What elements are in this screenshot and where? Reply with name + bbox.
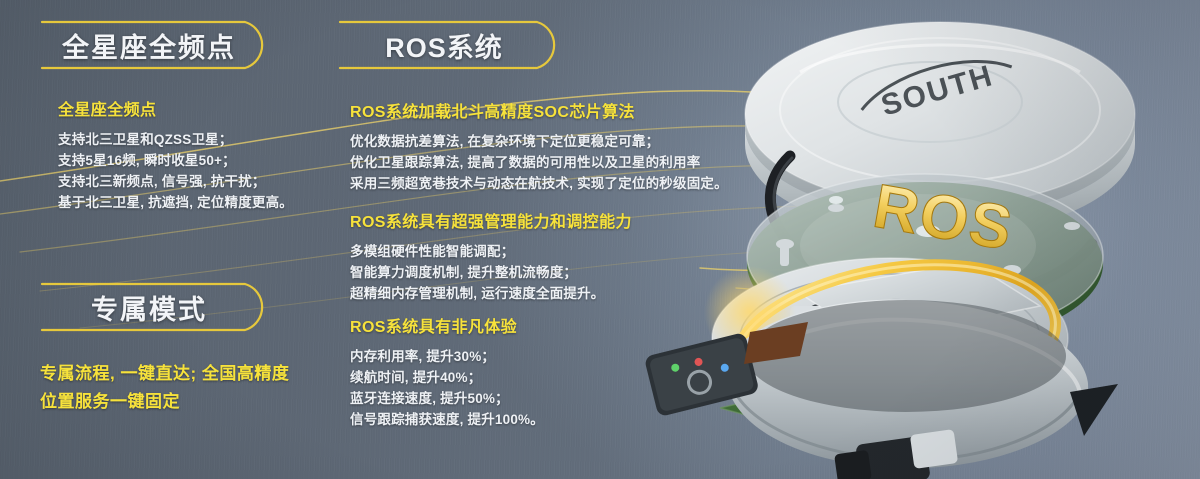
promo-banner: SOUTH bbox=[0, 0, 1200, 479]
feature-block-exclusive: 专属流程, 一键直达; 全国高精度 位置服务一键固定 bbox=[40, 360, 289, 416]
heading-exclusive-label: 专属模式 bbox=[42, 282, 270, 332]
ros-section-line: 内存利用率, 提升30%； bbox=[350, 346, 544, 367]
ros-section-line: 蓝牙连接速度, 提升50%； bbox=[350, 388, 544, 409]
feature-line: 支持5星16频, 瞬时收星50+； bbox=[58, 150, 293, 171]
feature-block-constellation: 全星座全频点 支持北三卫星和QZSS卫星； 支持5星16频, 瞬时收星50+； … bbox=[58, 96, 293, 213]
ros-section-line: 优化卫星跟踪算法, 提高了数据的可用性以及卫星的利用率 bbox=[350, 152, 728, 173]
ros-section-line: 超精细内存管理机制, 运行速度全面提升。 bbox=[350, 283, 632, 304]
ros-section-title: ROS系统具有非凡体验 bbox=[350, 313, 544, 337]
ros-section-line: 信号跟踪捕获速度, 提升100%。 bbox=[350, 409, 544, 430]
heading-ros-label: ROS系统 bbox=[340, 20, 562, 70]
feature-line: 基于北三卫星, 抗遮挡, 定位精度更高。 bbox=[58, 192, 293, 213]
ros-section-title: ROS系统加载北斗高精度SOC芯片算法 bbox=[350, 98, 728, 122]
ros-block-management: ROS系统具有超强管理能力和调控能力 多模组硬件性能智能调配； 智能算力调度机制… bbox=[350, 208, 632, 304]
ros-block-soc: ROS系统加载北斗高精度SOC芯片算法 优化数据抗差算法, 在复杂环境下定位更稳… bbox=[350, 98, 728, 194]
ros-block-experience: ROS系统具有非凡体验 内存利用率, 提升30%； 续航时间, 提升40%； 蓝… bbox=[350, 313, 544, 430]
ros-section-line: 多模组硬件性能智能调配； bbox=[350, 241, 632, 262]
ros-section-line: 优化数据抗差算法, 在复杂环境下定位更稳定可靠； bbox=[350, 131, 728, 152]
feature-title: 全星座全频点 bbox=[58, 96, 293, 120]
feature-line: 支持北三卫星和QZSS卫星； bbox=[58, 129, 293, 150]
ros-section-line: 续航时间, 提升40%； bbox=[350, 367, 544, 388]
ros-section-line: 采用三频超宽巷技术与动态在航技术, 实现了定位的秒级固定。 bbox=[350, 173, 728, 194]
ros-section-line: 智能算力调度机制, 提升整机流畅度； bbox=[350, 262, 632, 283]
ros-section-title: ROS系统具有超强管理能力和调控能力 bbox=[350, 208, 632, 232]
heading-bracket-ros: ROS系统 bbox=[340, 20, 562, 70]
heading-constellation-label: 全星座全频点 bbox=[42, 20, 270, 70]
feature-line: 支持北三新频点, 信号强, 抗干扰； bbox=[58, 171, 293, 192]
exclusive-line: 位置服务一键固定 bbox=[40, 388, 289, 416]
heading-bracket-exclusive: 专属模式 bbox=[42, 282, 270, 332]
heading-bracket-constellation: 全星座全频点 bbox=[42, 20, 270, 70]
exclusive-line: 专属流程, 一键直达; 全国高精度 bbox=[40, 360, 289, 388]
